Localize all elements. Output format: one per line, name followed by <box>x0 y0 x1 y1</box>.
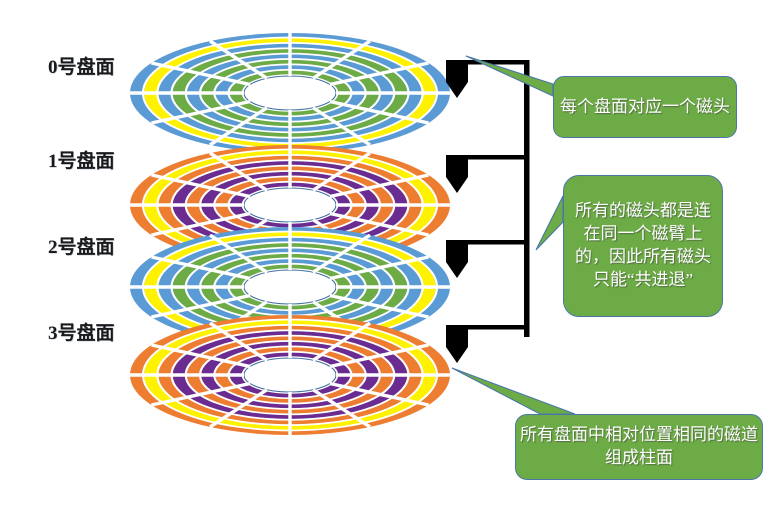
arm-spine[interactable] <box>524 62 530 337</box>
actuator-arm-assembly[interactable] <box>446 60 530 363</box>
platters-group <box>130 33 450 435</box>
callout-arm-shared: 所有的磁头都是连在同一个磁臂上的，因此所有磁头只能“共进退” <box>563 175 723 317</box>
platter-label-0: 0号盘面 <box>48 52 115 79</box>
callout-cylinder-text: 所有盘面中相对位置相同的磁道组成柱面 <box>516 424 762 470</box>
callout-head-per-surface: 每个盘面对应一个磁头 <box>553 76 737 138</box>
arm-segment-2[interactable] <box>462 240 530 245</box>
head-stem-2 <box>453 258 461 268</box>
platter-label-2: 2号盘面 <box>48 232 115 259</box>
callout-head-text: 每个盘面对应一个磁头 <box>554 96 736 119</box>
spindle-hole <box>244 270 336 304</box>
head-stem-3 <box>453 343 461 353</box>
spindle-hole <box>244 188 336 222</box>
platter-0 <box>130 33 450 153</box>
head-stem-0 <box>453 78 461 88</box>
leader-arm-callout <box>536 196 563 250</box>
platter-label-1: 1号盘面 <box>48 146 115 173</box>
platter-3 <box>130 315 450 435</box>
arm-segment-1[interactable] <box>462 155 530 160</box>
callout-cylinder: 所有盘面中相对位置相同的磁道组成柱面 <box>515 414 763 480</box>
spindle-hole <box>244 76 336 110</box>
leader-cylinder-callout <box>452 368 575 414</box>
arm-segment-0[interactable] <box>462 60 530 65</box>
diagram-canvas: 0号盘面 1号盘面 2号盘面 3号盘面 每个盘面对应一个磁头 所有的磁头都是连在… <box>0 0 784 510</box>
arm-segment-3[interactable] <box>462 325 530 330</box>
spindle-hole <box>244 358 336 392</box>
platter-label-3: 3号盘面 <box>48 318 115 345</box>
callout-arm-text: 所有的磁头都是连在同一个磁臂上的，因此所有磁头只能“共进退” <box>573 200 713 291</box>
head-stem-1 <box>453 173 461 183</box>
